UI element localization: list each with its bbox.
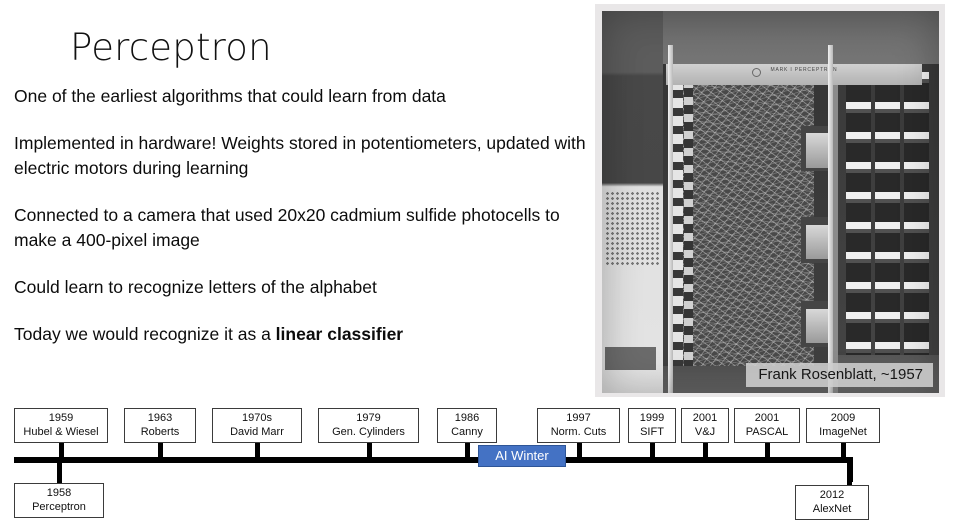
paragraph-5-emphasis: linear classifier	[276, 324, 403, 344]
timeline-node-stem	[703, 441, 708, 459]
timeline-node-stem	[57, 461, 62, 485]
timeline-node-year: 1959	[19, 411, 103, 425]
photo-vignette	[602, 11, 939, 393]
timeline-node-stem	[841, 441, 846, 459]
timeline-node-stem	[255, 441, 260, 459]
timeline-node-stem	[765, 441, 770, 459]
timeline-node-box[interactable]: 2012AlexNet	[795, 485, 869, 520]
slide-perceptron: { "slide": { "title": "Perceptron", "par…	[0, 0, 961, 507]
paragraph-3: Connected to a camera that used 20x20 ca…	[14, 203, 594, 253]
paragraph-4: Could learn to recognize letters of the …	[14, 275, 594, 300]
timeline-node-label: ImageNet	[811, 425, 875, 439]
timeline-node-box[interactable]: 2001PASCAL	[734, 408, 800, 443]
timeline-node-label: SIFT	[633, 425, 671, 439]
timeline-axis-bar	[14, 457, 853, 463]
timeline-node-label: Roberts	[129, 425, 191, 439]
timeline-node-box[interactable]: 1997Norm. Cuts	[537, 408, 620, 443]
timeline-node-stem	[367, 441, 372, 459]
paragraph-2: Implemented in hardware! Weights stored …	[14, 131, 594, 181]
timeline-node-stem	[577, 441, 582, 459]
timeline-node-year: 1963	[129, 411, 191, 425]
timeline-node-stem	[59, 441, 64, 459]
perceptron-photo-frame: MARK I PERCEPTRON Frank Rosenblatt, ~195…	[595, 4, 945, 397]
page-title: Perceptron	[70, 26, 272, 69]
timeline-node-box[interactable]: 2009ImageNet	[806, 408, 880, 443]
paragraph-5-lead: Today we would recognize it as a	[14, 324, 276, 344]
perceptron-photo: MARK I PERCEPTRON Frank Rosenblatt, ~195…	[602, 11, 939, 393]
timeline-node-label: Norm. Cuts	[542, 425, 615, 439]
timeline-node-box[interactable]: 1958Perceptron	[14, 483, 104, 518]
photo-caption: Frank Rosenblatt, ~1957	[746, 363, 933, 387]
timeline-node-label: Canny	[442, 425, 492, 439]
timeline-node-stem	[158, 441, 163, 459]
timeline-node-box[interactable]: 1979Gen. Cylinders	[318, 408, 419, 443]
timeline-node-label: AlexNet	[800, 502, 864, 516]
timeline-node-box[interactable]: 1986Canny	[437, 408, 497, 443]
timeline-node-box[interactable]: 1999SIFT	[628, 408, 676, 443]
timeline-node-box[interactable]: 1963Roberts	[124, 408, 196, 443]
timeline-node-year: 1997	[542, 411, 615, 425]
timeline-node-box[interactable]: 1959Hubel & Wiesel	[14, 408, 108, 443]
paragraph-1: One of the earliest algorithms that coul…	[14, 84, 594, 109]
timeline-node-year: 2001	[739, 411, 795, 425]
timeline-node-stem	[465, 441, 470, 459]
timeline-node-label: Hubel & Wiesel	[19, 425, 103, 439]
timeline-node-year: 2001	[686, 411, 724, 425]
paragraph-5: Today we would recognize it as a linear …	[14, 322, 594, 347]
body-text-block: One of the earliest algorithms that coul…	[14, 84, 594, 347]
timeline-node-box[interactable]: 2001V&J	[681, 408, 729, 443]
timeline-node-year: 1970s	[217, 411, 297, 425]
history-timeline: 1959Hubel & Wiesel1963Roberts1970sDavid …	[0, 398, 961, 507]
timeline-node-year: 2012	[800, 488, 864, 502]
timeline-node-box[interactable]: 1970sDavid Marr	[212, 408, 302, 443]
timeline-node-label: PASCAL	[739, 425, 795, 439]
timeline-node-stem	[650, 441, 655, 459]
timeline-node-label: Gen. Cylinders	[323, 425, 414, 439]
timeline-node-label: V&J	[686, 425, 724, 439]
timeline-node-year: 1999	[633, 411, 671, 425]
timeline-node-year: 1979	[323, 411, 414, 425]
timeline-node-label: Perceptron	[19, 500, 99, 514]
timeline-node-year: 1986	[442, 411, 492, 425]
ai-winter-badge[interactable]: AI Winter	[478, 445, 566, 467]
timeline-node-year: 2009	[811, 411, 875, 425]
timeline-node-label: David Marr	[217, 425, 297, 439]
timeline-node-year: 1958	[19, 486, 99, 500]
